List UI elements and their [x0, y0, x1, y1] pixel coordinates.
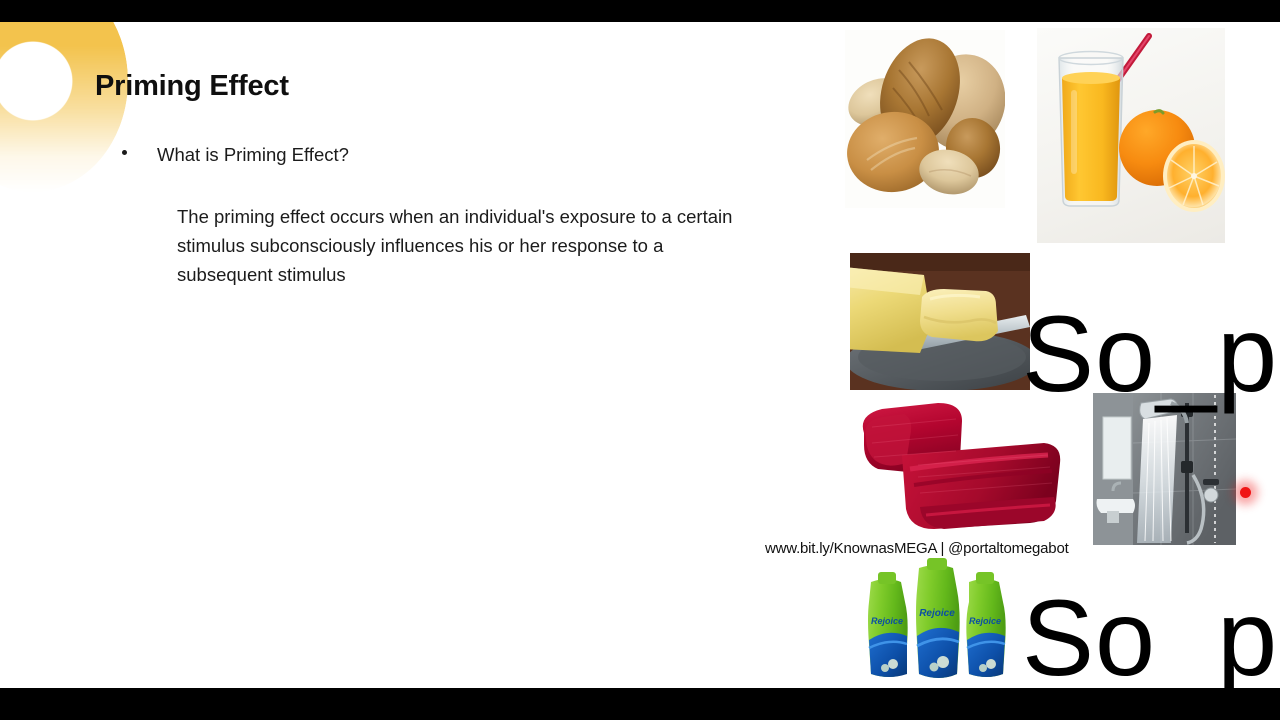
- page-title: Priming Effect: [95, 70, 289, 103]
- slide-screenshot: Priming Effect What is Priming Effect? T…: [0, 0, 1280, 720]
- soap-prompt-top: So_p: [1022, 300, 1278, 408]
- orange-juice-photo: [1037, 28, 1225, 243]
- svg-text:Rejoice: Rejoice: [919, 608, 955, 619]
- svg-text:Rejoice: Rejoice: [969, 616, 1001, 626]
- letterbox-bar-top: [0, 0, 1280, 22]
- bullet-dot-icon: [122, 150, 127, 155]
- body-paragraph: The priming effect occurs when an indivi…: [177, 202, 737, 289]
- svg-text:Rejoice: Rejoice: [871, 616, 903, 626]
- bread-photo: [845, 30, 1005, 208]
- letterbox-bar-bottom: [0, 688, 1280, 720]
- soap-prompt-bottom: So_p: [1022, 584, 1278, 688]
- shower-photo: [1093, 393, 1236, 545]
- shampoo-photo: Rejoice Rejoice: [857, 556, 1012, 688]
- butter-photo: [850, 253, 1030, 390]
- red-pointer-dot-icon: [1240, 487, 1251, 498]
- slide-canvas: Priming Effect What is Priming Effect? T…: [0, 22, 1280, 688]
- gold-ring-decoration: [0, 22, 128, 192]
- bullet-label: What is Priming Effect?: [157, 144, 349, 166]
- watermark-attribution: www.bit.ly/KnownasMEGA | @portaltomegabo…: [765, 540, 1069, 557]
- red-towel-photo: [848, 397, 1070, 540]
